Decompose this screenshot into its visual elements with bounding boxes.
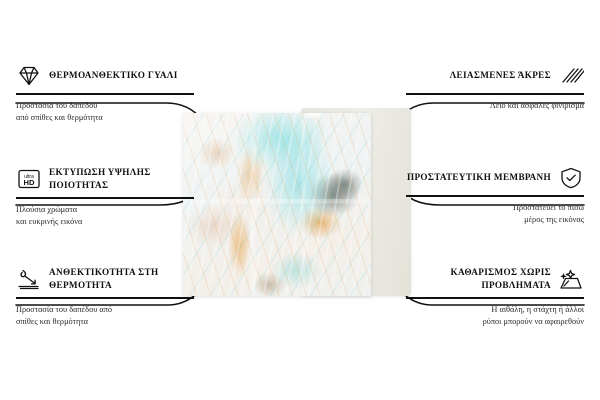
feature-title: ΑΝΘΕΚΤΙΚΟΤΗΤΑ ΣΤΗ ΘΕΡΜΟΤΗΤΑ: [49, 266, 194, 292]
divider: [16, 297, 194, 299]
divider: [16, 197, 194, 199]
feature-header: ΑΝΘΕΚΤΙΚΟΤΗΤΑ ΣΤΗ ΘΕΡΜΟΤΗΤΑ: [16, 266, 194, 292]
feature-description: Προστασία του δαπέδου από σπίθες και θερ…: [16, 304, 194, 329]
feature-header: ΚΑΘΑΡΙΣΜΟΣ ΧΩΡΙΣ ΠΡΟΒΛΗΜΑΤΑ: [406, 266, 584, 292]
feature-title: ΚΑΘΑΡΙΣΜΟΣ ΧΩΡΙΣ ΠΡΟΒΛΗΜΑΤΑ: [406, 266, 551, 292]
divider: [406, 297, 584, 299]
feature-protective-film: ΠΡΟΣΤΑΤΕΥΤΙΚΗ ΜΕΜΒΡΑΝΗ Προστατεύει το πί…: [406, 166, 584, 226]
feature-title: ΛΕΙΑΣΜΕΝΕΣ ΆΚΡΕΣ: [450, 69, 551, 82]
divider: [406, 195, 584, 197]
feature-heat-resistant-glass: ΘΕΡΜΟΑΝΘΕΚΤΙΚΟ ΓΥΑΛΙ Προστασία του δαπέδ…: [16, 64, 194, 124]
panel-front-glass: [183, 113, 371, 296]
feature-high-quality-print: ultra HD ΕΚΤΥΠΩΣΗ ΥΨΗΛΗΣ ΠΟΙΟΤΗΤΑΣ Πλούσ…: [16, 166, 194, 228]
diamond-icon: [16, 64, 42, 88]
feature-title: ΕΚΤΥΠΩΣΗ ΥΨΗΛΗΣ ΠΟΙΟΤΗΤΑΣ: [49, 166, 194, 192]
glass-glint: [301, 113, 327, 119]
flame-resistance-icon: [16, 267, 42, 291]
product-image: [183, 113, 416, 296]
ultra-hd-icon: ultra HD: [16, 167, 42, 191]
shield-check-icon: [558, 166, 584, 190]
feature-easy-cleaning: ΚΑΘΑΡΙΣΜΟΣ ΧΩΡΙΣ ΠΡΟΒΛΗΜΑΤΑ Η αιθάλη, η …: [406, 266, 584, 328]
sparkle-clean-icon: [558, 267, 584, 291]
feature-polished-edges: ΛΕΙΑΣΜΕΝΕΣ ΆΚΡΕΣ Λείο και ασφαλές φινίρι…: [406, 64, 584, 112]
feature-title: ΘΕΡΜΟΑΝΘΕΚΤΙΚΟ ΓΥΑΛΙ: [49, 69, 178, 82]
feature-header: ΛΕΙΑΣΜΕΝΕΣ ΆΚΡΕΣ: [406, 64, 584, 88]
feature-description: Προστασία του δαπέδου από σπίθες και θερ…: [16, 100, 194, 125]
feature-header: ultra HD ΕΚΤΥΠΩΣΗ ΥΨΗΛΗΣ ΠΟΙΟΤΗΤΑΣ: [16, 166, 194, 192]
feature-description: Η αιθάλη, η στάχτη ή άλλοι ρύποι μπορούν…: [406, 304, 584, 329]
infographic-stage: ΘΕΡΜΟΑΝΘΕΚΤΙΚΟ ΓΥΑΛΙ Προστασία του δαπέδ…: [0, 0, 600, 400]
svg-text:HD: HD: [24, 178, 35, 187]
feature-description: Πλούσια χρώματα και ευκρινής εικόνα: [16, 204, 194, 229]
divider: [406, 93, 584, 95]
glass-reflection-overlay: [183, 113, 371, 296]
polished-edges-icon: [558, 64, 584, 88]
feature-description: Λείο και ασφαλές φινίρισμα: [406, 100, 584, 112]
feature-heat-durability: ΑΝΘΕΚΤΙΚΟΤΗΤΑ ΣΤΗ ΘΕΡΜΟΤΗΤΑ Προστασία το…: [16, 266, 194, 328]
feature-title: ΠΡΟΣΤΑΤΕΥΤΙΚΗ ΜΕΜΒΡΑΝΗ: [407, 171, 551, 184]
feature-header: ΠΡΟΣΤΑΤΕΥΤΙΚΗ ΜΕΜΒΡΑΝΗ: [406, 166, 584, 190]
feature-description: Προστατεύει το πίσω μέρος της εικόνας: [406, 202, 584, 227]
feature-header: ΘΕΡΜΟΑΝΘΕΚΤΙΚΟ ΓΥΑΛΙ: [16, 64, 194, 88]
divider: [16, 93, 194, 95]
